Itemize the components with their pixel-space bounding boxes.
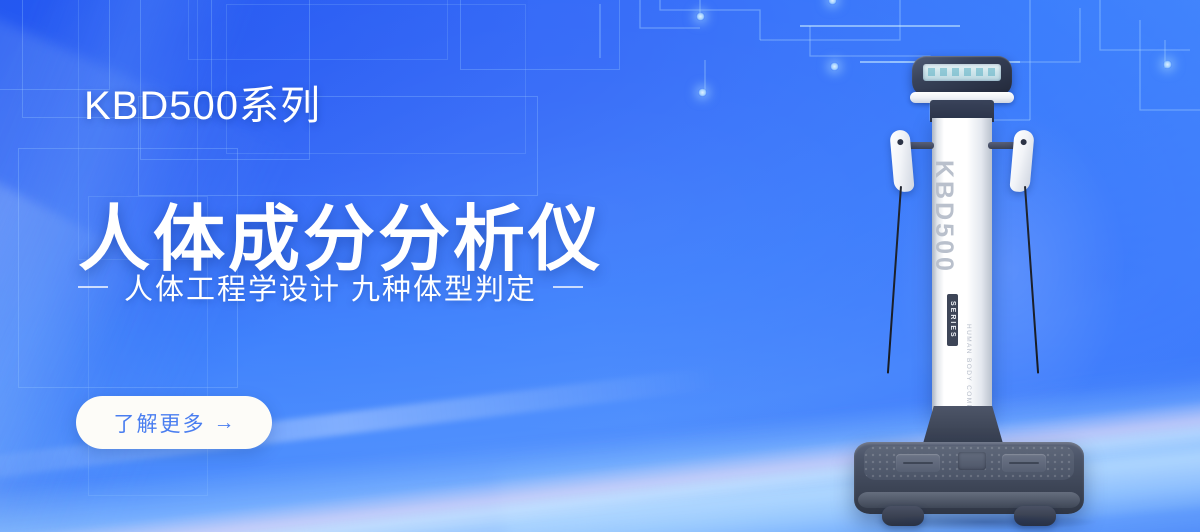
hero-banner: KBD500 SERIES HUMAN BODY COMPOSITION ANA… xyxy=(0,0,1200,532)
hero-copy-block: KBD500系列 人体成分分析仪 人体工程学设计 九种体型判定 了解更多 → xyxy=(0,0,700,532)
handle-button xyxy=(897,139,904,146)
device-display-head xyxy=(912,56,1012,96)
device-brand-label: KBD500 xyxy=(929,160,958,280)
foot-electrode-pad-left xyxy=(896,454,940,472)
learn-more-button[interactable]: 了解更多 → xyxy=(76,396,272,449)
device-handle-arm-right xyxy=(988,142,1016,149)
foot-electrode-pad-right xyxy=(1002,454,1046,472)
device-platform xyxy=(854,442,1084,514)
pad-groove xyxy=(1009,462,1039,464)
dash-right-decoration xyxy=(553,286,583,288)
arrow-right-icon: → xyxy=(214,412,235,433)
dash-left-decoration xyxy=(78,286,108,288)
device-screen xyxy=(923,64,1001,81)
subtitle-row: 人体工程学设计 九种体型判定 xyxy=(78,266,583,308)
product-series-label: KBD500系列 xyxy=(84,73,321,131)
hero-subtitle: 人体工程学设计 九种体型判定 xyxy=(124,266,537,308)
device-screen-lines xyxy=(928,68,996,76)
device-ground-shadow xyxy=(874,514,1096,530)
platform-center-plate xyxy=(958,452,986,470)
device-column: KBD500 SERIES HUMAN BODY COMPOSITION ANA… xyxy=(932,118,992,418)
learn-more-label: 了解更多 xyxy=(114,408,206,438)
device-series-badge: SERIES xyxy=(947,294,958,346)
body-composition-analyzer-image: KBD500 SERIES HUMAN BODY COMPOSITION ANA… xyxy=(838,38,1168,532)
handle-button xyxy=(1020,139,1027,146)
pad-groove xyxy=(903,462,933,464)
